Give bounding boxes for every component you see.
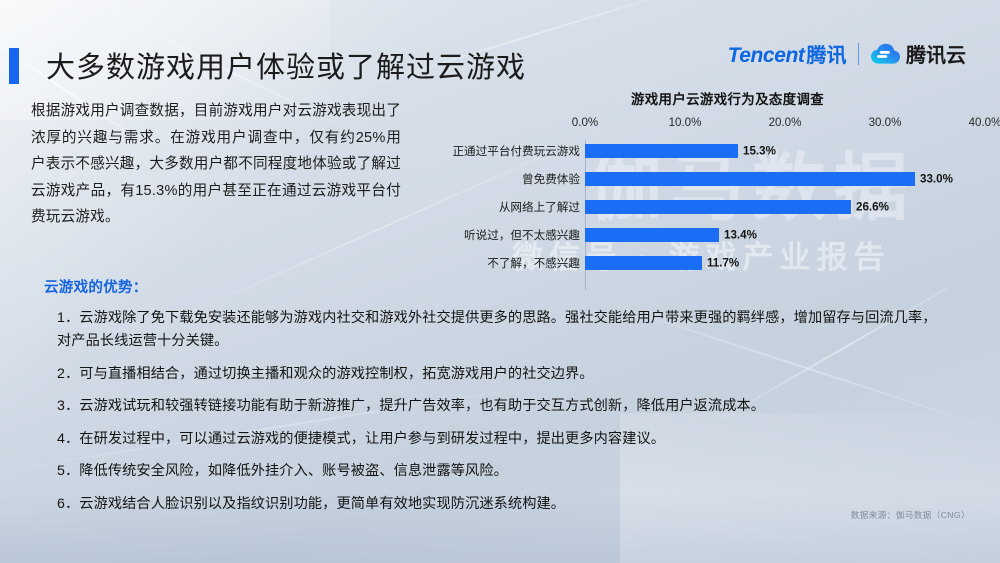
- list-item: 6．云游戏结合人脸识别以及指纹识别功能，更简单有效地实现防沉迷系统构建。: [57, 493, 939, 516]
- chart-value-label: 33.0%: [915, 173, 953, 186]
- page-title: 大多数游戏用户体验或了解过云游戏: [46, 44, 526, 86]
- x-axis-tick: 0.0%: [572, 116, 598, 129]
- chart-category-label: 听说过，但不太感兴趣: [464, 227, 585, 243]
- chart-bar: [585, 228, 719, 242]
- tencent-cloud-lockup: 腾讯云: [870, 39, 966, 68]
- brand-divider: [858, 43, 860, 65]
- chart-category-label: 不了解，不感兴趣: [487, 255, 585, 271]
- x-axis-tick: 30.0%: [869, 116, 902, 129]
- x-axis-tick: 20.0%: [769, 116, 802, 129]
- chart-bar-track: 26.6%: [585, 200, 985, 214]
- chart-bar-row: 从网络上了解过26.6%: [440, 200, 985, 214]
- brand-lockup: Tencent 腾讯 腾讯云: [728, 39, 966, 68]
- chart-x-axis: 0.0%10.0%20.0%30.0%40.0%: [440, 116, 985, 136]
- chart-bar: [585, 256, 702, 270]
- chart-bar-track: 33.0%: [585, 172, 985, 186]
- chart-category-label: 从网络上了解过: [499, 199, 585, 215]
- advantages-heading: 云游戏的优势：: [44, 276, 148, 297]
- chart-value-label: 15.3%: [738, 145, 776, 158]
- chart-bar-track: 11.7%: [585, 256, 985, 270]
- chart-bar-track: 13.4%: [585, 228, 985, 242]
- chart-bar: [585, 172, 915, 186]
- chart-bars: 正通过平台付费玩云游戏15.3%曾免费体验33.0%从网络上了解过26.6%听说…: [440, 140, 985, 286]
- chart-category-label: 曾免费体验: [522, 171, 585, 187]
- x-axis-tick: 40.0%: [969, 116, 1000, 129]
- list-item: 2．可与直播相结合，通过切换主播和观众的游戏控制权，拓宽游戏用户的社交边界。: [57, 363, 939, 386]
- x-axis-tick: 10.0%: [669, 116, 702, 129]
- chart-value-label: 11.7%: [702, 257, 739, 270]
- chart-category-label: 正通过平台付费玩云游戏: [452, 143, 585, 159]
- advantages-list: 1．云游戏除了免下载免安装还能够为游戏内社交和游戏外社交提供更多的思路。强社交能…: [57, 307, 939, 525]
- tencent-wordmark-en: Tencent: [728, 44, 805, 68]
- chart-value-label: 26.6%: [851, 201, 889, 214]
- list-item: 5．降低传统安全风险，如降低外挂介入、账号被盗、信息泄露等风险。: [57, 460, 939, 483]
- chart-bar: [585, 200, 851, 214]
- chart-value-label: 13.4%: [719, 229, 757, 242]
- tencent-cloud-label: 腾讯云: [906, 39, 966, 68]
- chart-bar-row: 曾免费体验33.0%: [440, 172, 985, 186]
- chart-bar-row: 不了解，不感兴趣11.7%: [440, 256, 985, 270]
- chart-bar: [585, 144, 738, 158]
- intro-paragraph: 根据游戏用户调查数据，目前游戏用户对云游戏表现出了浓厚的兴趣与需求。在游戏用户调…: [31, 98, 401, 231]
- list-item: 1．云游戏除了免下载免安装还能够为游戏内社交和游戏外社交提供更多的思路。强社交能…: [57, 307, 939, 353]
- chart-source-note: 数据来源：伽马数据（CNG）: [851, 509, 970, 521]
- chart-bar-row: 正通过平台付费玩云游戏15.3%: [440, 144, 985, 158]
- tencent-wordmark: Tencent 腾讯: [728, 39, 847, 68]
- list-item: 4．在研发过程中，可以通过云游戏的便捷模式，让用户参与到研发过程中，提出更多内容…: [57, 428, 939, 451]
- chart-bar-row: 听说过，但不太感兴趣13.4%: [440, 228, 985, 242]
- chart-title: 游戏用户云游戏行为及态度调查: [440, 88, 985, 108]
- list-item: 3．云游戏试玩和较强转链接功能有助于新游推广，提升广告效率，也有助于交互方式创新…: [57, 395, 939, 418]
- tencent-cloud-icon: [870, 43, 900, 65]
- chart-bar-track: 15.3%: [585, 144, 985, 158]
- chart-container: 游戏用户云游戏行为及态度调查 0.0%10.0%20.0%30.0%40.0% …: [440, 88, 985, 288]
- title-accent-bar: [9, 48, 19, 84]
- chart-plot-area: 0.0%10.0%20.0%30.0%40.0% 正通过平台付费玩云游戏15.3…: [440, 116, 985, 286]
- tencent-wordmark-cn: 腾讯: [807, 39, 847, 68]
